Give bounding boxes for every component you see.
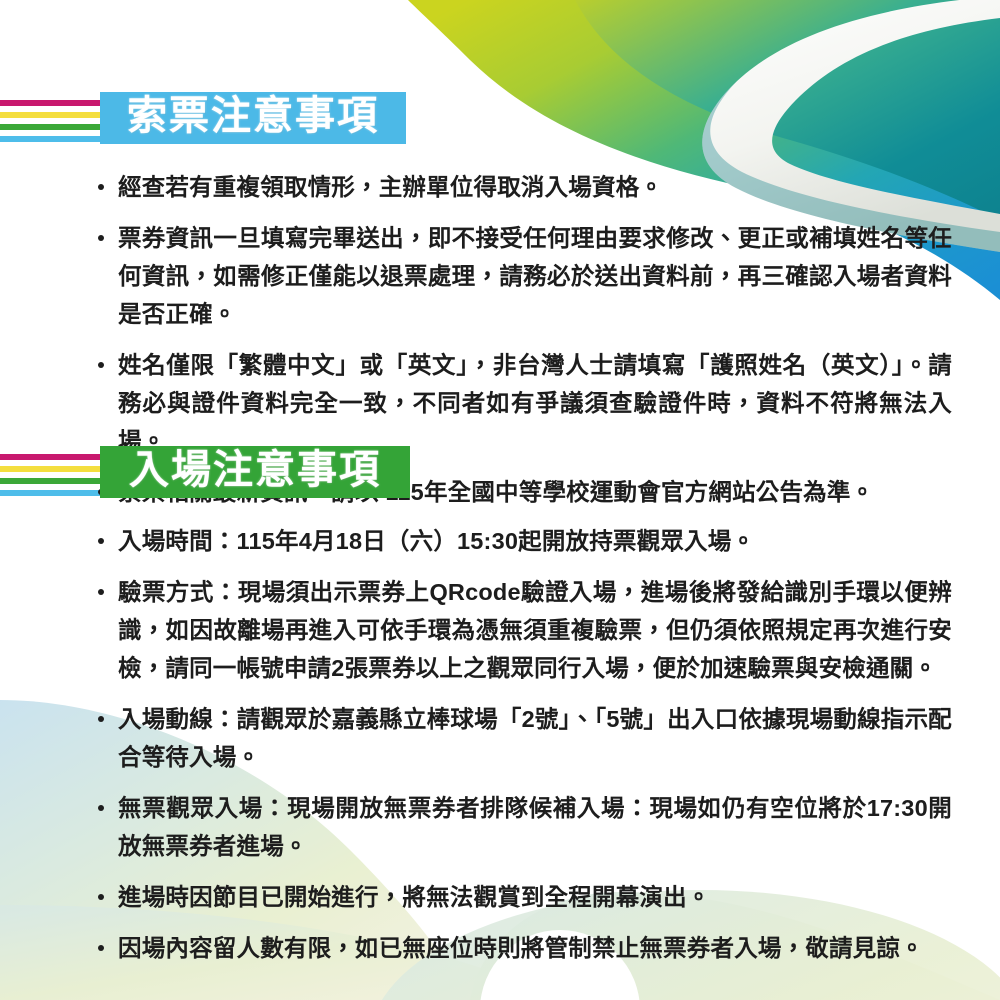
bullet-dot-icon [98,538,104,544]
list-item: 因場內容留人數有限，如已無座位時則將管制禁止無票券者入場，敬請見諒。 [96,929,952,967]
section-heading-badge-ticket-request: 索票注意事項 [100,92,406,144]
list-item-text: 入場時間：115年4月18日（六）15:30起開放持票觀眾入場。 [118,528,755,554]
list-item: 票券資訊一旦填寫完畢送出，即不接受任何理由要求修改、更正或補填姓名等任何資訊，如… [96,219,952,333]
bullet-dot-icon [98,945,104,951]
section-heading-badge-admission: 入場注意事項 [100,446,410,498]
list-item: 進場時因節目已開始進行，將無法觀賞到全程開幕演出。 [96,878,952,916]
bullet-dot-icon [98,589,104,595]
list-item-text: 入場動線：請觀眾於嘉義縣立棒球場「2號」、「5號」出入口依據現場動線指示配合等待… [118,706,952,770]
list-item: 經查若有重複領取情形，主辦單位得取消入場資格。 [96,168,952,206]
poster-page: 索票注意事項 經查若有重複領取情形，主辦單位得取消入場資格。 票券資訊一旦填寫完… [0,0,1000,1000]
list-item-text: 姓名僅限「繁體中文」或「英文」，非台灣人士請填寫「護照姓名（英文）」。請務必與證… [118,352,952,454]
bullet-dot-icon [98,894,104,900]
list-item: 入場動線：請觀眾於嘉義縣立棒球場「2號」、「5號」出入口依據現場動線指示配合等待… [96,700,952,776]
section-body-admission: 入場時間：115年4月18日（六）15:30起開放持票觀眾入場。 驗票方式：現場… [96,522,952,967]
section-title-admission: 入場注意事項 [129,449,381,491]
list-item: 入場時間：115年4月18日（六）15:30起開放持票觀眾入場。 [96,522,952,560]
section-title-ticket-request: 索票注意事項 [127,95,379,137]
bullet-dot-icon [98,184,104,190]
list-item-text: 進場時因節目已開始進行，將無法觀賞到全程開幕演出。 [118,884,711,910]
bullet-dot-icon [98,805,104,811]
list-item-text: 票券資訊一旦填寫完畢送出，即不接受任何理由要求修改、更正或補填姓名等任何資訊，如… [118,225,952,327]
list-item-text: 因場內容留人數有限，如已無座位時則將管制禁止無票券者入場，敬請見諒。 [118,935,924,961]
list-item-text: 經查若有重複領取情形，主辦單位得取消入場資格。 [118,174,663,200]
bullet-dot-icon [98,235,104,241]
bullet-dot-icon [98,362,104,368]
list-item: 驗票方式：現場須出示票券上QRcode驗證入場，進場後將發給識別手環以便辨識，如… [96,573,952,687]
list-item-text: 驗票方式：現場須出示票券上QRcode驗證入場，進場後將發給識別手環以便辨識，如… [118,579,952,681]
list-item: 姓名僅限「繁體中文」或「英文」，非台灣人士請填寫「護照姓名（英文）」。請務必與證… [96,346,952,460]
list-item-text: 無票觀眾入場：現場開放無票券者排隊候補入場：現場如仍有空位將於17:30開放無票… [118,795,952,859]
list-item: 無票觀眾入場：現場開放無票券者排隊候補入場：現場如仍有空位將於17:30開放無票… [96,789,952,865]
bullet-dot-icon [98,716,104,722]
